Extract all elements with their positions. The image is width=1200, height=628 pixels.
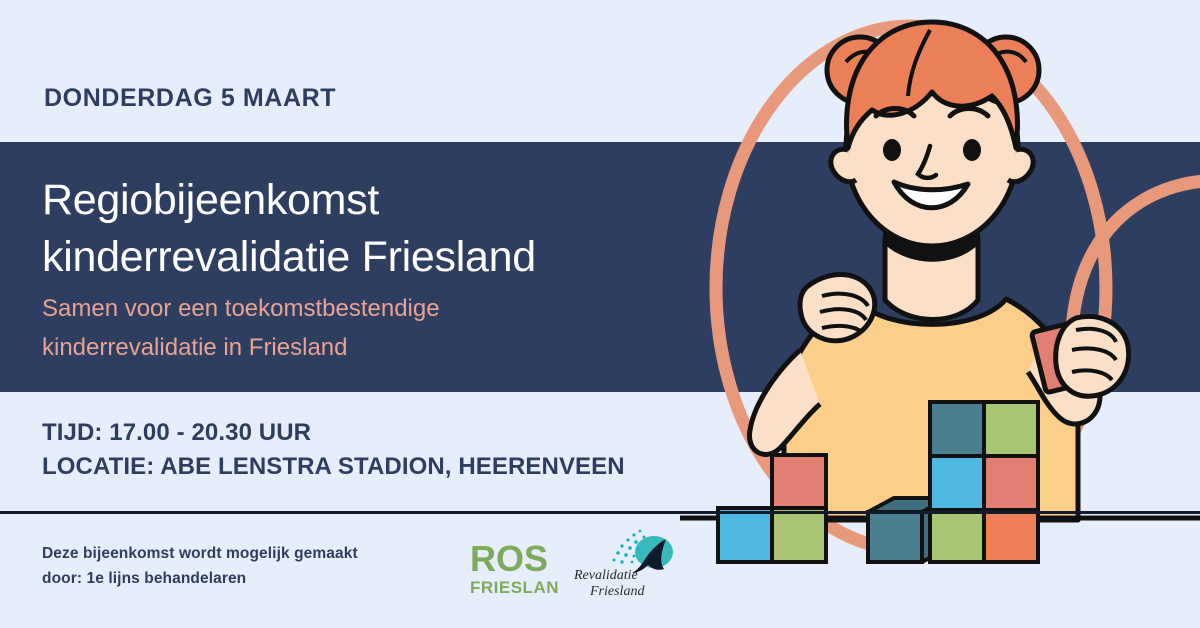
ros-friesland-logo: ROS FRIESLAND — [468, 535, 560, 601]
event-date: DONDERDAG 5 MAART — [44, 84, 336, 113]
footer-line-2: door: 1e lijns behandelaren — [42, 566, 358, 591]
block-teal-right — [930, 402, 984, 456]
subtitle-line-2: kinderrevalidatie in Friesland — [42, 331, 682, 364]
event-location: LOCATIE: ABE LENSTRA STADION, HEERENVEEN — [42, 450, 625, 484]
illustration-child-with-blocks — [680, 0, 1200, 628]
revalidatie-friesland-logo: Revalidatie Friesland — [574, 527, 682, 601]
ros-logo-line2: FRIESLAND — [470, 578, 560, 597]
block-sky-right — [930, 456, 984, 510]
poster-canvas: DONDERDAG 5 MAART Regiobijeenkomst kinde… — [0, 0, 1200, 628]
block-green-right-top — [984, 402, 1038, 456]
rf-logo-line2: Friesland — [589, 584, 645, 599]
subtitle-line-1: Samen voor een toekomstbestendige — [42, 292, 682, 325]
page-title-line-2: kinderrevalidatie Friesland — [42, 229, 682, 286]
event-time: TIJD: 17.00 - 20.30 UUR — [42, 416, 625, 450]
block-salmon-right — [984, 456, 1038, 510]
footer-line-1: Deze bijeenkomst wordt mogelijk gemaakt — [42, 541, 358, 566]
sponsor-logos: ROS FRIESLAND Revalidatie Friesland — [468, 527, 682, 601]
footer-credits: Deze bijeenkomst wordt mogelijk gemaakt … — [42, 541, 358, 591]
eye-left — [883, 139, 901, 161]
page-title-line-1: Regiobijeenkomst — [42, 172, 682, 229]
block-salmon-left — [772, 455, 826, 509]
title-block: Regiobijeenkomst kinderrevalidatie Fries… — [42, 172, 682, 364]
block-sky-left — [718, 508, 772, 562]
block-green-right-bottom — [930, 510, 984, 562]
block-orange-right — [984, 510, 1038, 562]
ros-logo-line1: ROS — [470, 538, 548, 579]
eye-right — [963, 139, 981, 161]
event-details: TIJD: 17.00 - 20.30 UUR LOCATIE: ABE LEN… — [42, 416, 625, 484]
horizontal-divider — [0, 511, 1200, 514]
rf-logo-line1: Revalidatie — [574, 568, 638, 583]
block-green-left — [772, 508, 826, 562]
